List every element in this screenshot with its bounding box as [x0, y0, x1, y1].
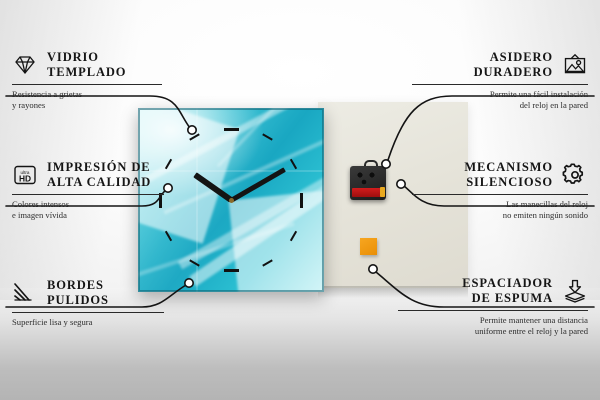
feature-espaciador-de-espuma[interactable]: ESPACIADOR DE ESPUMA Permite mantener un… [398, 276, 588, 337]
divider [412, 84, 588, 85]
infographic-canvas: VIDRIO TEMPLADO Resistencia a grietas y … [0, 0, 600, 400]
divider [12, 194, 164, 195]
connector-dot-vidrio [188, 126, 196, 134]
picture-hanger-icon [562, 53, 588, 77]
connector-dot-impresion [164, 184, 172, 192]
polished-edges-icon [12, 281, 38, 305]
divider [412, 194, 588, 195]
connector-dot-asidero [382, 160, 390, 168]
feature-title: BORDES PULIDOS [47, 278, 109, 308]
feature-description: Permite mantener una distancia uniforme … [398, 315, 588, 337]
feature-description: Colores intensos e imagen vívida [12, 199, 164, 221]
ultra-hd-badge-icon: ultra HD [12, 163, 38, 187]
connector-dot-mecanismo [397, 180, 405, 188]
feature-title: VIDRIO TEMPLADO [47, 50, 126, 80]
svg-text:HD: HD [19, 173, 31, 183]
connector-dot-bordes [185, 279, 193, 287]
feature-title: MECANISMO SILENCIOSO [464, 160, 553, 190]
feature-description: Las manecillas del reloj no emiten ningú… [412, 199, 588, 221]
divider [398, 310, 588, 311]
divider [12, 84, 162, 85]
feature-mecanismo-silencioso[interactable]: MECANISMO SILENCIOSO Las manecillas del … [412, 160, 588, 221]
feature-vidrio-templado[interactable]: VIDRIO TEMPLADO Resistencia a grietas y … [12, 50, 162, 111]
feature-description: Superficie lisa y segura [12, 317, 164, 328]
feature-description: Resistencia a grietas y rayones [12, 89, 162, 111]
feature-asidero-duradero[interactable]: ASIDERO DURADERO Permite una fácil insta… [412, 50, 588, 111]
divider [12, 312, 164, 313]
feature-title: ASIDERO DURADERO [474, 50, 553, 80]
diamond-icon [12, 53, 38, 77]
foam-spacer-icon [562, 279, 588, 303]
gear-icon [562, 163, 588, 187]
feature-title: IMPRESIÓN DE ALTA CALIDAD [47, 160, 151, 190]
feature-bordes-pulidos[interactable]: BORDES PULIDOS Superficie lisa y segura [12, 278, 164, 328]
feature-impresion-alta-calidad[interactable]: ultra HD IMPRESIÓN DE ALTA CALIDAD Color… [12, 160, 164, 221]
feature-description: Permite una fácil instalación del reloj … [412, 89, 588, 111]
feature-title: ESPACIADOR DE ESPUMA [462, 276, 553, 306]
connector-dot-espaciador [369, 265, 377, 273]
